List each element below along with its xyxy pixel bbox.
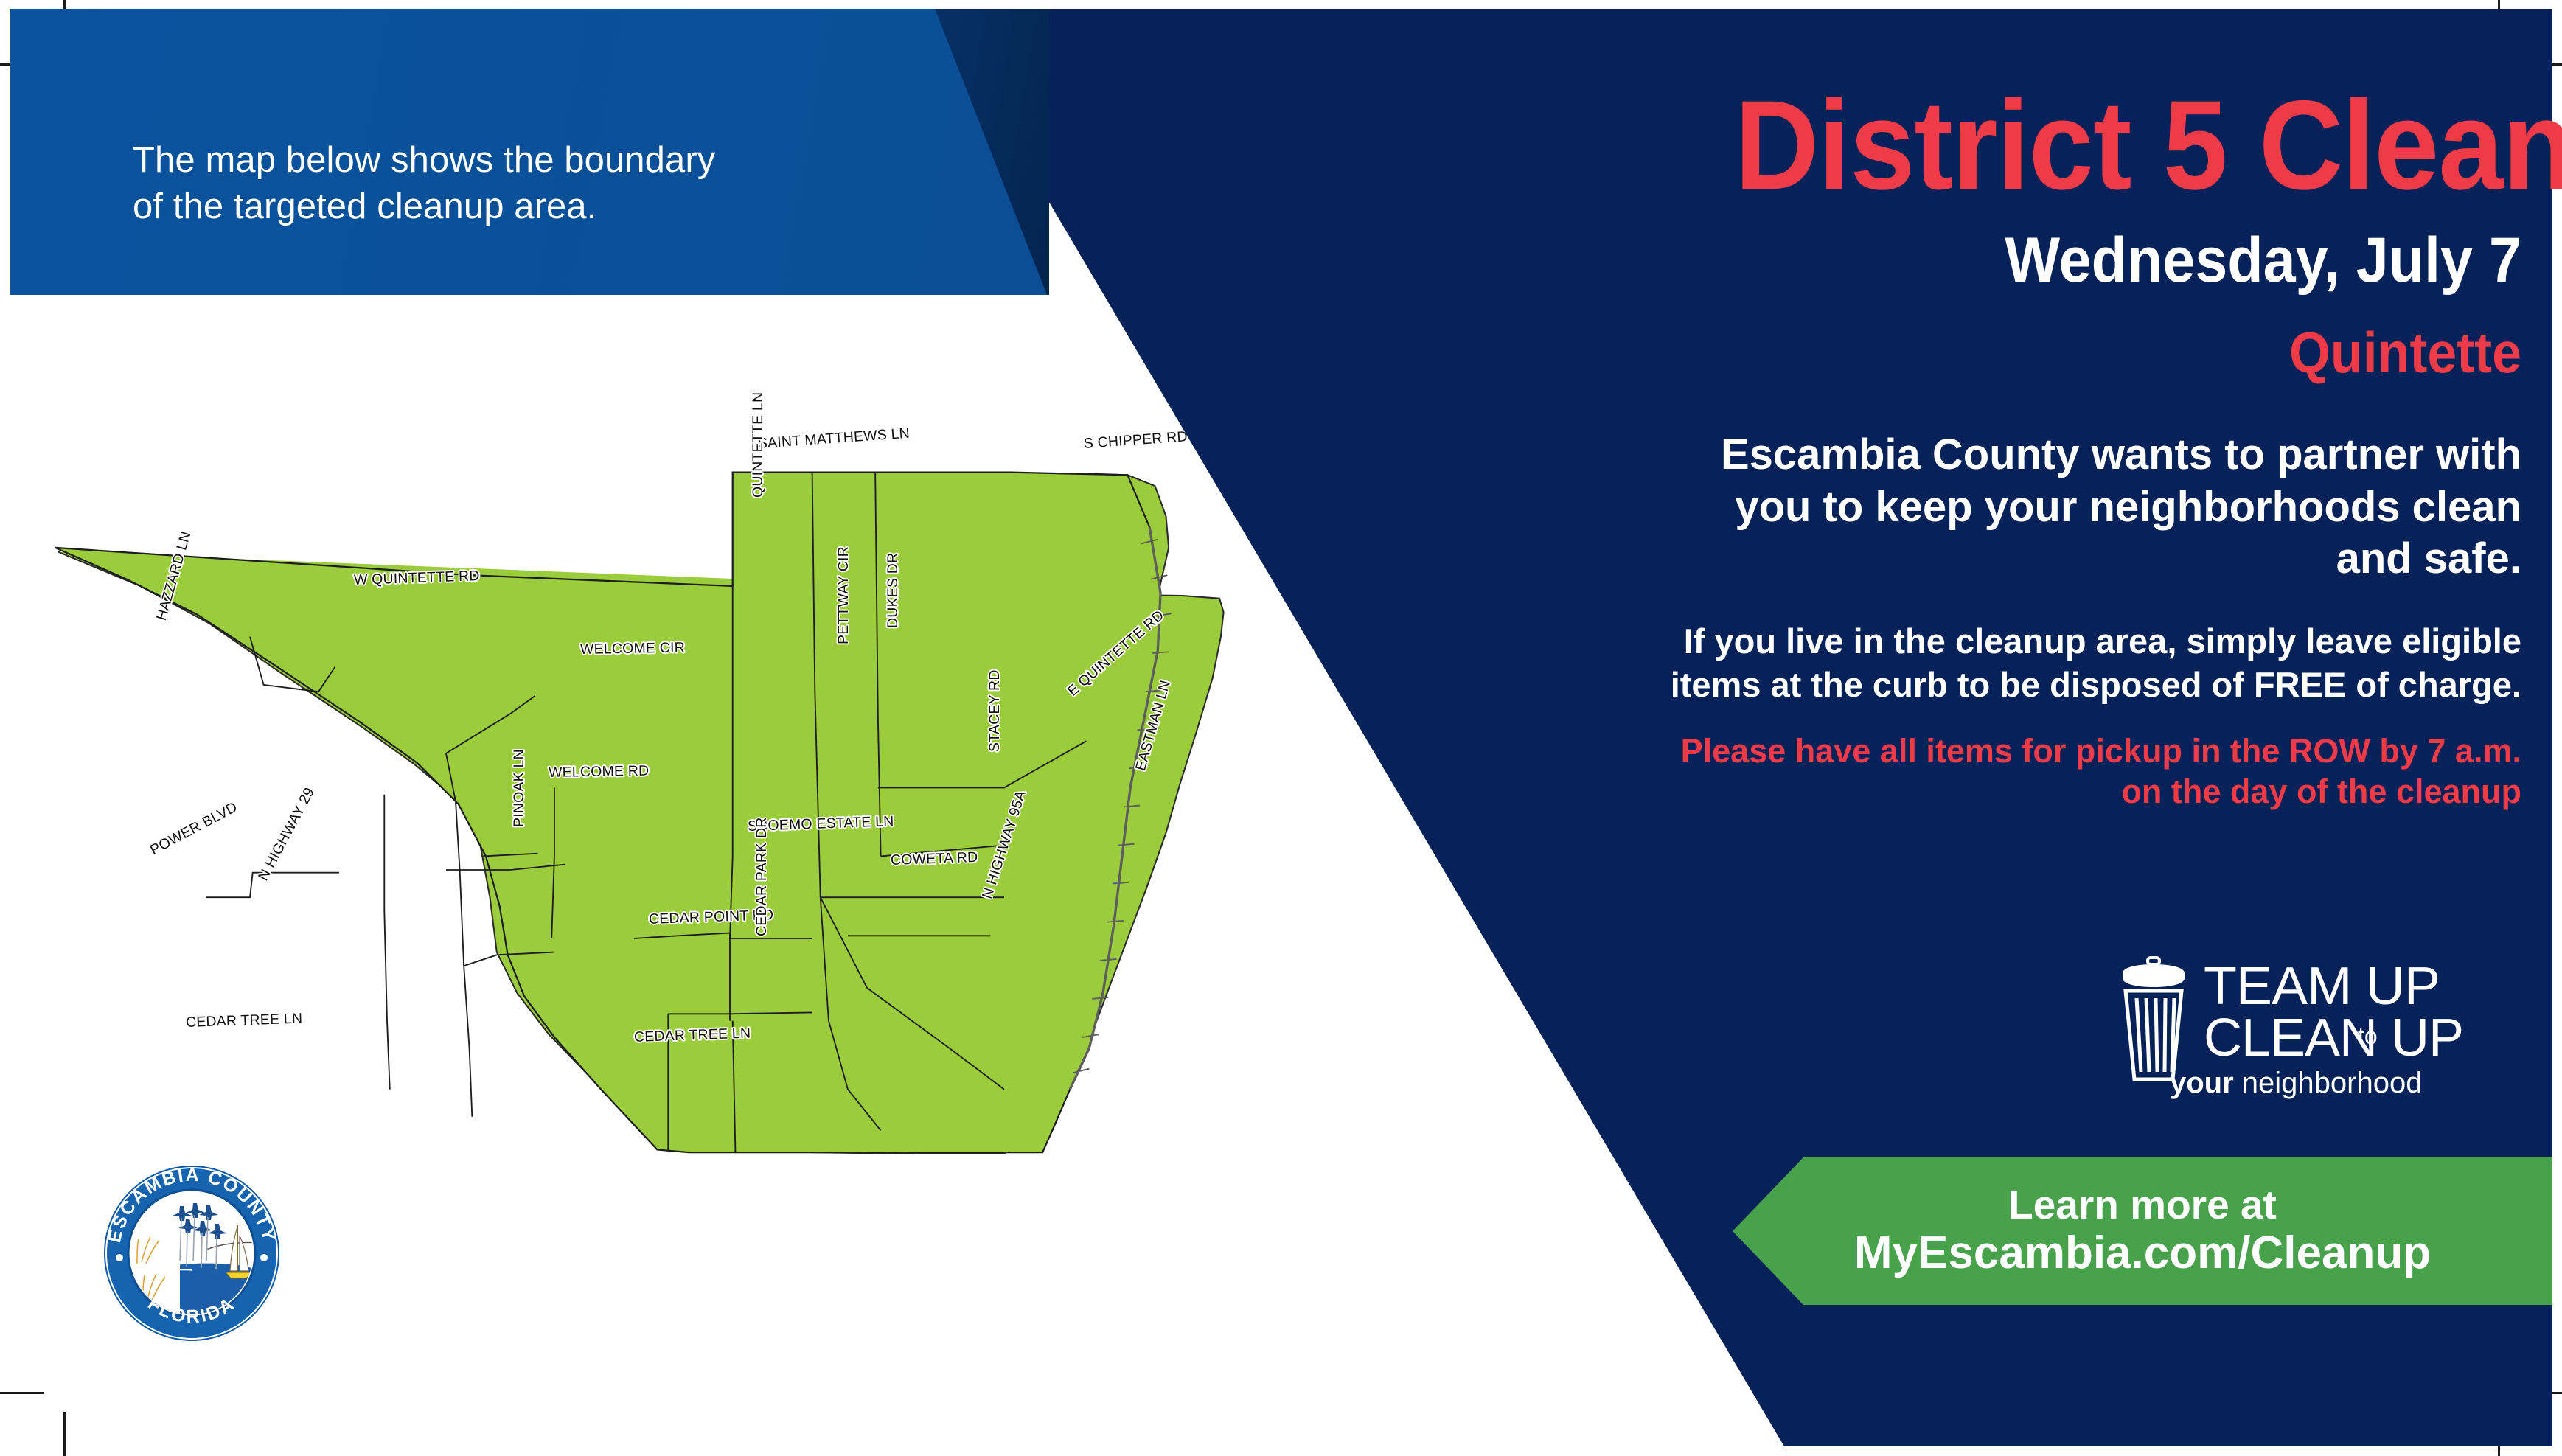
crop-mark-bottom-left-horizontal: [0, 1392, 44, 1394]
event-date: Wednesday, July 7: [1735, 224, 2521, 297]
logo-line-team: TEAM UP: [2204, 957, 2440, 1016]
logo-line-clean: CLEAN UP: [2204, 1009, 2463, 1067]
learn-more-label: Learn more at: [2008, 1184, 2277, 1225]
pickup-notice: Please have all items for pickup in the …: [1666, 731, 2521, 813]
crop-mark-bottom-left-vertical: [63, 1412, 66, 1456]
intro-paragraph: Escambia County wants to partner with yo…: [1666, 429, 2521, 585]
intro-text: The map below shows the boundary of the …: [133, 137, 958, 229]
road-label: PINOAK LN: [511, 749, 528, 827]
escambia-county-seal: ESCAMBIA COUNTY FLORIDA: [103, 1165, 280, 1342]
logo-tagline: your neighborhood: [2170, 1067, 2422, 1099]
road-label: COWETA RD: [891, 849, 978, 869]
free-emphasis: FREE: [2254, 665, 2346, 704]
road-label: WELCOME CIR: [580, 640, 685, 658]
page-title: District 5 Cleanup: [1735, 87, 2521, 205]
intro-text-line-2: of the targeted cleanup area.: [133, 184, 958, 230]
road-label: PETTWAY CIR: [835, 546, 852, 644]
road-label: DUKES DR: [885, 553, 902, 628]
instructions-text-post: of charge.: [2346, 665, 2521, 704]
road-label: STACEY RD: [986, 669, 1003, 752]
trash-can-icon: [2123, 958, 2185, 1079]
event-location: Quintette: [1735, 319, 2521, 386]
road-label: CEDAR PARK DR: [753, 817, 770, 936]
right-content-column: District 5 Cleanup Wednesday, July 7 Qui…: [1666, 87, 2521, 812]
team-up-to-clean-up-logo: TEAM UP to CLEAN UP your neighborhood: [2096, 955, 2509, 1125]
road-label: WELCOME RD: [549, 763, 650, 781]
road-label: QUINTETTE LN: [750, 392, 767, 498]
website-url[interactable]: MyEscambia.com/Cleanup: [1854, 1229, 2431, 1278]
learn-more-banner[interactable]: Learn more at MyEscambia.com/Cleanup: [1733, 1157, 2552, 1305]
instructions-paragraph: If you live in the cleanup area, simply …: [1666, 619, 2521, 706]
intro-text-line-1: The map below shows the boundary: [133, 137, 958, 184]
